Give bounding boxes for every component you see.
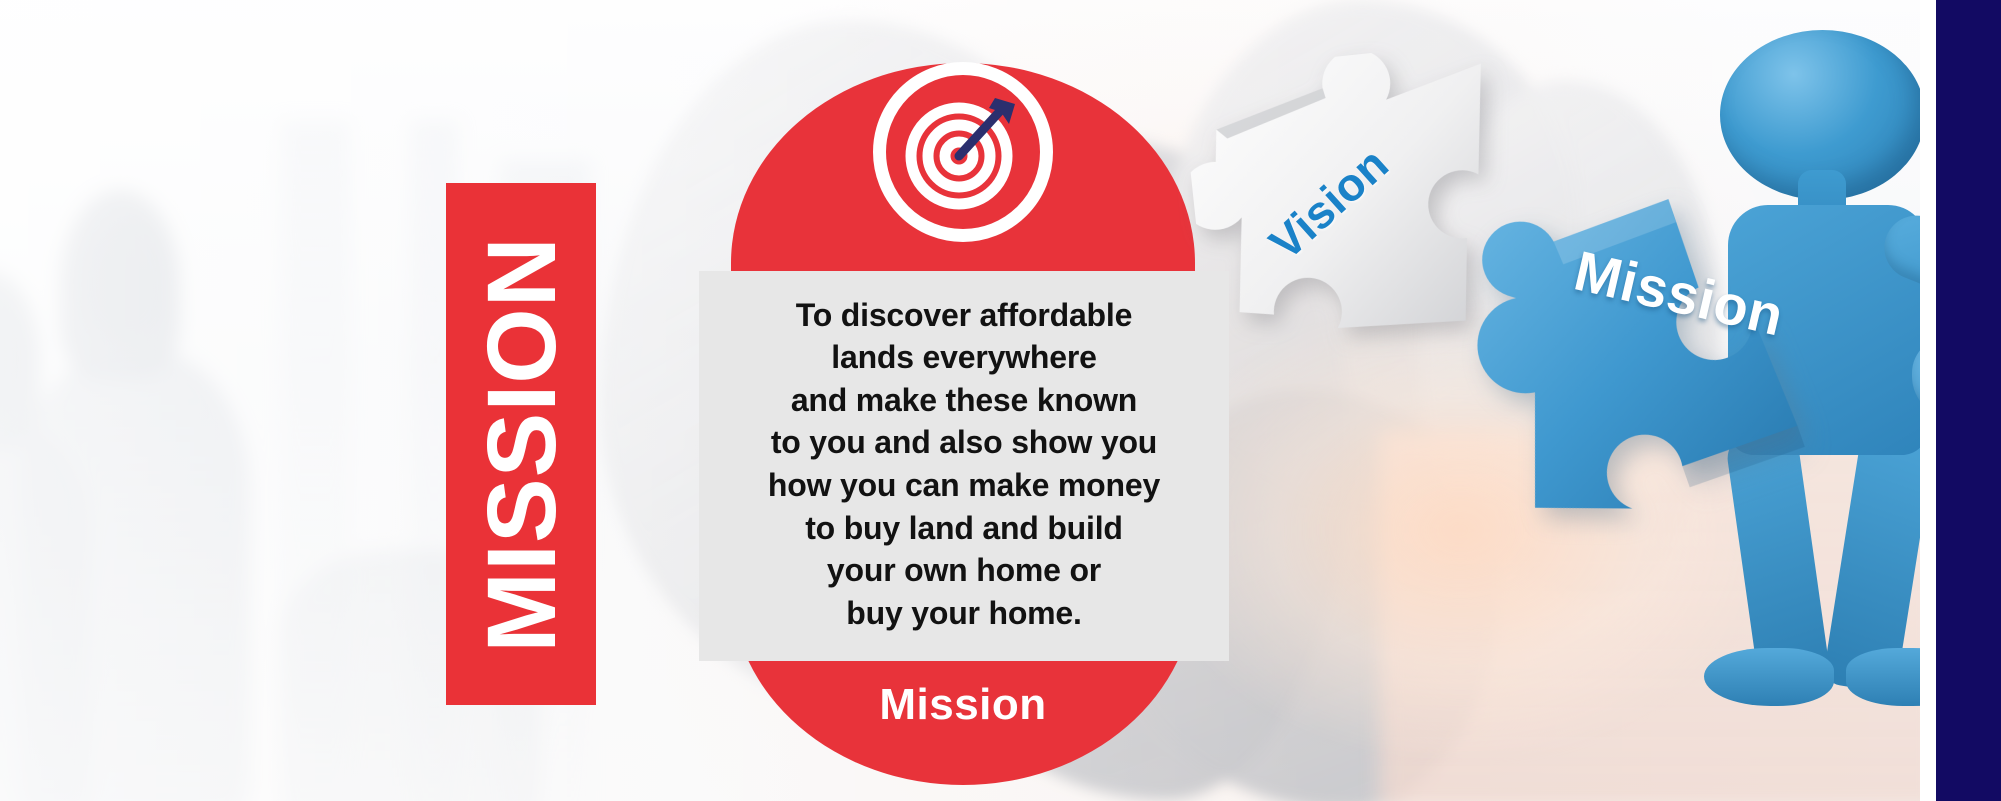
mission-line: lands everywhere [768, 336, 1160, 379]
mission-pill-label: Mission [731, 680, 1195, 730]
mission-line: buy your home. [768, 592, 1160, 635]
vertical-mission-label: MISSION [473, 236, 570, 653]
right-white-gutter [1920, 0, 1936, 801]
mission-line: and make these known [768, 379, 1160, 422]
mission-line: to you and also show you [768, 421, 1160, 464]
mission-line: how you can make money [768, 464, 1160, 507]
mission-statement-text: To discover affordable lands everywhere … [768, 294, 1160, 634]
right-navy-sidebar [1936, 0, 2001, 801]
mission-statement-card: To discover affordable lands everywhere … [699, 271, 1229, 661]
mission-line: to buy land and build [768, 507, 1160, 550]
vertical-mission-banner: MISSION [446, 183, 596, 705]
slide-canvas: Vision Mission [0, 0, 2001, 801]
mission-line: To discover affordable [768, 294, 1160, 337]
target-bullseye-icon [873, 62, 1053, 242]
mission-line: your own home or [768, 549, 1160, 592]
figure-foot-left [1704, 648, 1834, 706]
puzzle-piece-mission: Mission [1453, 147, 1883, 552]
